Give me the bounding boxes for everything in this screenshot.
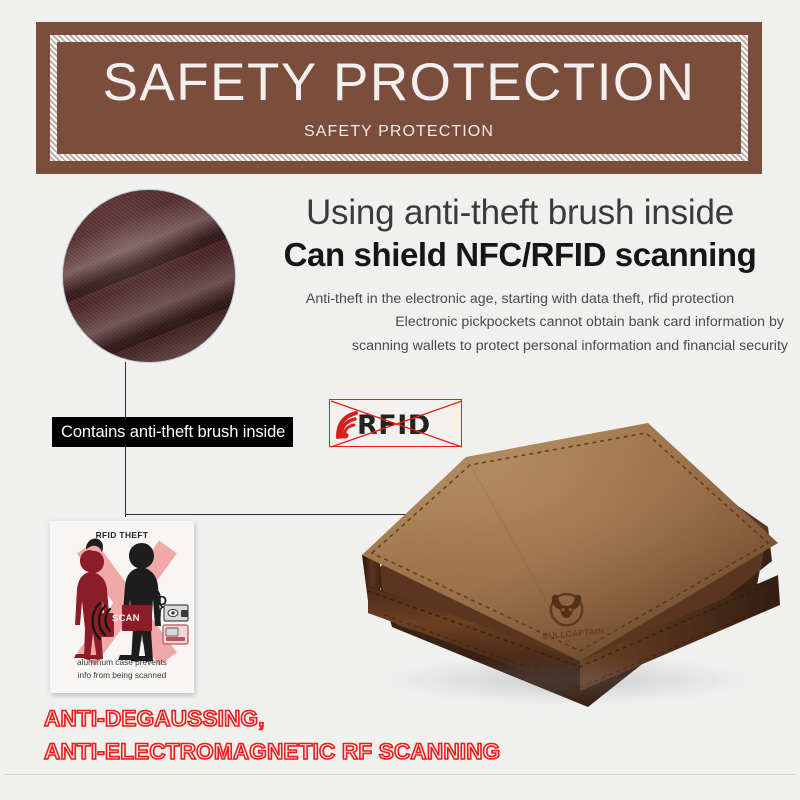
id-label: ID xyxy=(154,593,167,608)
wallet-drop-shadow xyxy=(378,655,758,705)
headline-secondary: Can shield NFC/RFID scanning xyxy=(250,235,790,275)
description-line: Anti-theft in the electronic age, starti… xyxy=(250,288,790,311)
footer-red-line: ANTI-ELECTROMAGNETIC RF SCANNING xyxy=(44,736,500,769)
description-line: Electronic pickpockets cannot obtain ban… xyxy=(250,311,790,334)
fabric-swatch-image xyxy=(63,190,235,362)
headline-block: Using anti-theft brush inside Can shield… xyxy=(250,192,790,358)
theft-card-footer: aluminum case prevents info from being s… xyxy=(50,656,194,681)
anti-theft-brush-label: Contains anti-theft brush inside xyxy=(52,417,293,447)
banner-content: SAFETY PROTECTION SAFETY PROTECTION xyxy=(57,42,741,154)
bottom-divider xyxy=(4,774,796,775)
description-line: scanning wallets to protect personal inf… xyxy=(250,335,790,358)
theft-card-footer-line: aluminum case prevents xyxy=(50,656,194,668)
footer-red-line: ANTI-DEGAUSSING, xyxy=(44,703,500,736)
footer-red-claims: ANTI-DEGAUSSING, ANTI-ELECTROMAGNETIC RF… xyxy=(44,703,500,768)
page-subtitle: SAFETY PROTECTION xyxy=(304,123,494,141)
banner-hatched-border: SAFETY PROTECTION SAFETY PROTECTION xyxy=(50,35,748,161)
id-card-icons xyxy=(163,605,188,644)
fabric-shading xyxy=(63,190,235,362)
headline-primary: Using anti-theft brush inside xyxy=(250,192,790,233)
rfid-theft-infographic: RFID THEFT xyxy=(50,521,194,693)
theft-card-footer-line: info from being scanned xyxy=(50,669,194,681)
product-detail-page: SAFETY PROTECTION SAFETY PROTECTION Usin… xyxy=(0,0,800,800)
page-title: SAFETY PROTECTION xyxy=(103,56,696,109)
description-paragraph: Anti-theft in the electronic age, starti… xyxy=(250,288,790,358)
victim-hair xyxy=(86,539,103,552)
header-banner: SAFETY PROTECTION SAFETY PROTECTION xyxy=(36,22,762,174)
wallet-product-image: BULLCAPTAIN xyxy=(348,415,800,735)
scan-label: SCAN xyxy=(112,613,140,624)
